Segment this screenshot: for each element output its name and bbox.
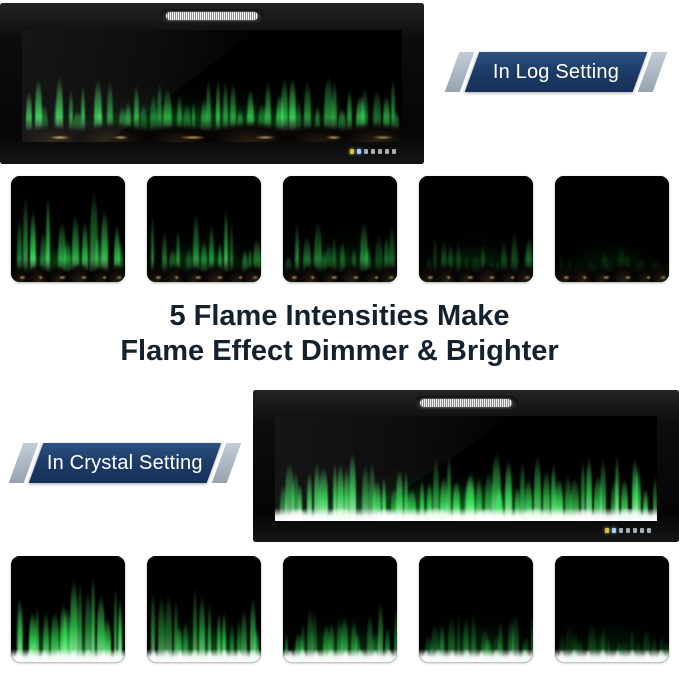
led-dot (633, 528, 637, 533)
intensity-thumbnail (147, 556, 261, 662)
flame-display (283, 556, 397, 662)
crystal-ember-bed (147, 649, 261, 662)
flame-display (11, 556, 125, 662)
flame-display-crystal (275, 416, 657, 521)
led-dot (640, 528, 644, 533)
crystal-ember-bed (275, 508, 657, 521)
intensity-thumbnail (555, 556, 669, 662)
led-dot (385, 149, 389, 154)
intensity-thumbnail (147, 176, 261, 282)
banner-crystal-setting: In Crystal Setting (16, 443, 234, 483)
logs-ember-bed (555, 259, 669, 282)
page-headline: 5 Flame Intensities Make Flame Effect Di… (0, 299, 679, 370)
flame-group (283, 556, 397, 662)
flame-group (275, 416, 657, 521)
flame-group (147, 556, 261, 662)
led-dot (619, 528, 623, 533)
fireplace-log-setting (0, 3, 424, 164)
logs-ember-bed (419, 259, 533, 282)
logs-ember-bed (11, 259, 125, 282)
product-feature-image: In Log Setting 5 Flame Intensities Make … (0, 0, 679, 674)
banner-log-setting: In Log Setting (452, 52, 660, 92)
banner-plate: In Log Setting (465, 52, 648, 92)
flame-group (11, 556, 125, 662)
flame-group (555, 556, 669, 662)
flame-display (419, 556, 533, 662)
flame-group (419, 556, 533, 662)
fireplace-glass (275, 416, 657, 521)
vent-handle (414, 396, 518, 410)
logs-ember-bed (283, 259, 397, 282)
flame-display (283, 176, 397, 282)
headline-line-1: 5 Flame Intensities Make (0, 299, 679, 334)
log-intensity-thumbnails (11, 176, 669, 282)
crystal-ember-bed (555, 649, 669, 662)
led-amber (350, 149, 354, 154)
intensity-thumbnail (283, 556, 397, 662)
flame-display (147, 176, 261, 282)
fireplace-crystal-setting (253, 390, 679, 542)
flame-display (419, 176, 533, 282)
intensity-thumbnail (555, 176, 669, 282)
flame-display (147, 556, 261, 662)
vent-mesh (166, 12, 258, 20)
led-dot (647, 528, 651, 533)
led-amber (605, 528, 609, 533)
headline-line-2: Flame Effect Dimmer & Brighter (0, 334, 679, 369)
led-dot (371, 149, 375, 154)
intensity-thumbnail (419, 556, 533, 662)
intensity-thumbnail (11, 176, 125, 282)
log-ember-bed (22, 117, 402, 142)
vent-handle (160, 9, 264, 23)
banner-plate: In Crystal Setting (29, 443, 222, 483)
banner-crystal-label: In Crystal Setting (31, 452, 219, 475)
crystal-ember-bed (11, 649, 125, 662)
banner-log-label: In Log Setting (477, 61, 635, 84)
fireplace-glass (22, 30, 402, 142)
intensity-thumbnail (283, 176, 397, 282)
led-dot (364, 149, 368, 154)
led-dot (626, 528, 630, 533)
intensity-thumbnail (419, 176, 533, 282)
crystal-ember-bed (283, 649, 397, 662)
led-blue (612, 528, 616, 533)
flame-display-log (22, 30, 402, 142)
logs-ember-bed (147, 259, 261, 282)
led-dot (378, 149, 382, 154)
flame-display (555, 176, 669, 282)
intensity-thumbnail (11, 556, 125, 662)
flame-display (555, 556, 669, 662)
flame-display (11, 176, 125, 282)
vent-mesh (420, 399, 512, 407)
control-panel-crystal[interactable] (605, 528, 651, 533)
led-dot (392, 149, 396, 154)
crystal-intensity-thumbnails (11, 556, 669, 662)
led-blue (357, 149, 361, 154)
control-panel-log[interactable] (350, 149, 396, 154)
crystal-ember-bed (419, 649, 533, 662)
